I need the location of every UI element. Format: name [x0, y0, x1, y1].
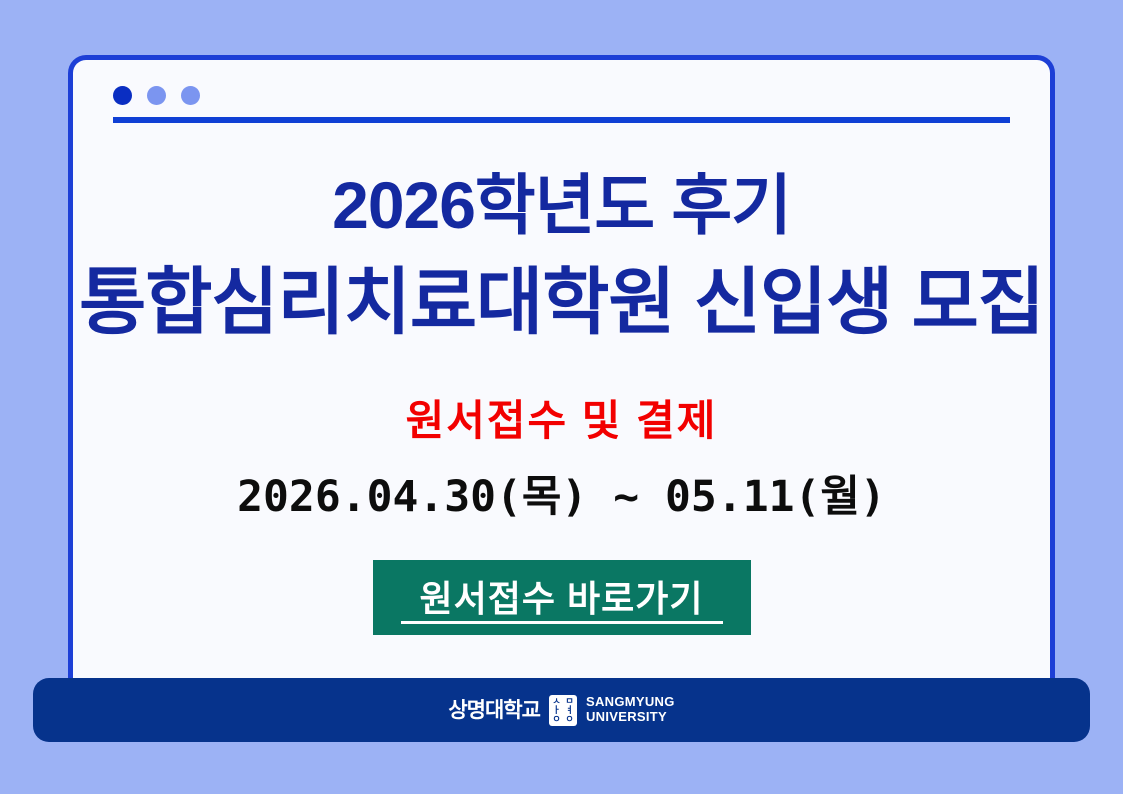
brand-korean-name: 상명대학교	[448, 700, 540, 721]
apply-now-button[interactable]: 원서접수 바로가기	[373, 560, 751, 635]
brand-english-name: SANGMYUNG UNIVERSITY	[586, 695, 675, 724]
dot-close-icon[interactable]	[113, 86, 132, 105]
cta-underline	[401, 621, 723, 624]
poster-title-line-2: 통합심리치료대학원 신입생 모집	[73, 266, 1050, 339]
brand-english-line-2: UNIVERSITY	[586, 709, 667, 724]
emblem-glyph-6: ㅇ	[565, 715, 573, 724]
cta-container: 원서접수 바로가기	[73, 560, 1050, 635]
sangmyung-emblem-icon: ㅅ ㅁ ㅏ ㅕ ㅇ ㅇ	[549, 695, 577, 726]
dot-minimize-icon[interactable]	[147, 86, 166, 105]
poster-subtitle: 원서접수 및 결제	[73, 387, 1050, 448]
apply-now-button-label: 원서접수 바로가기	[420, 581, 704, 617]
emblem-glyph-5: ㅇ	[552, 715, 560, 724]
university-logo: 상명대학교 ㅅ ㅁ ㅏ ㅕ ㅇ ㅇ SANGMYUNG UNIVERSITY	[448, 695, 674, 726]
poster-title-line-1: 2026학년도 후기	[73, 172, 1050, 238]
dot-maximize-icon[interactable]	[181, 86, 200, 105]
poster-canvas: 2026학년도 후기 통합심리치료대학원 신입생 모집 원서접수 및 결제 20…	[0, 0, 1123, 794]
poster-content: 2026학년도 후기 통합심리치료대학원 신입생 모집 원서접수 및 결제 20…	[73, 150, 1050, 635]
application-date-range: 2026.04.30(목) ~ 05.11(월)	[73, 462, 1050, 524]
browser-window-card: 2026학년도 후기 통합심리치료대학원 신입생 모집 원서접수 및 결제 20…	[68, 55, 1055, 678]
header-divider	[113, 117, 1010, 123]
footer-bar: 상명대학교 ㅅ ㅁ ㅏ ㅕ ㅇ ㅇ SANGMYUNG UNIVERSITY	[33, 678, 1090, 742]
window-control-dots	[113, 86, 200, 105]
brand-english-line-1: SANGMYUNG	[586, 694, 675, 709]
